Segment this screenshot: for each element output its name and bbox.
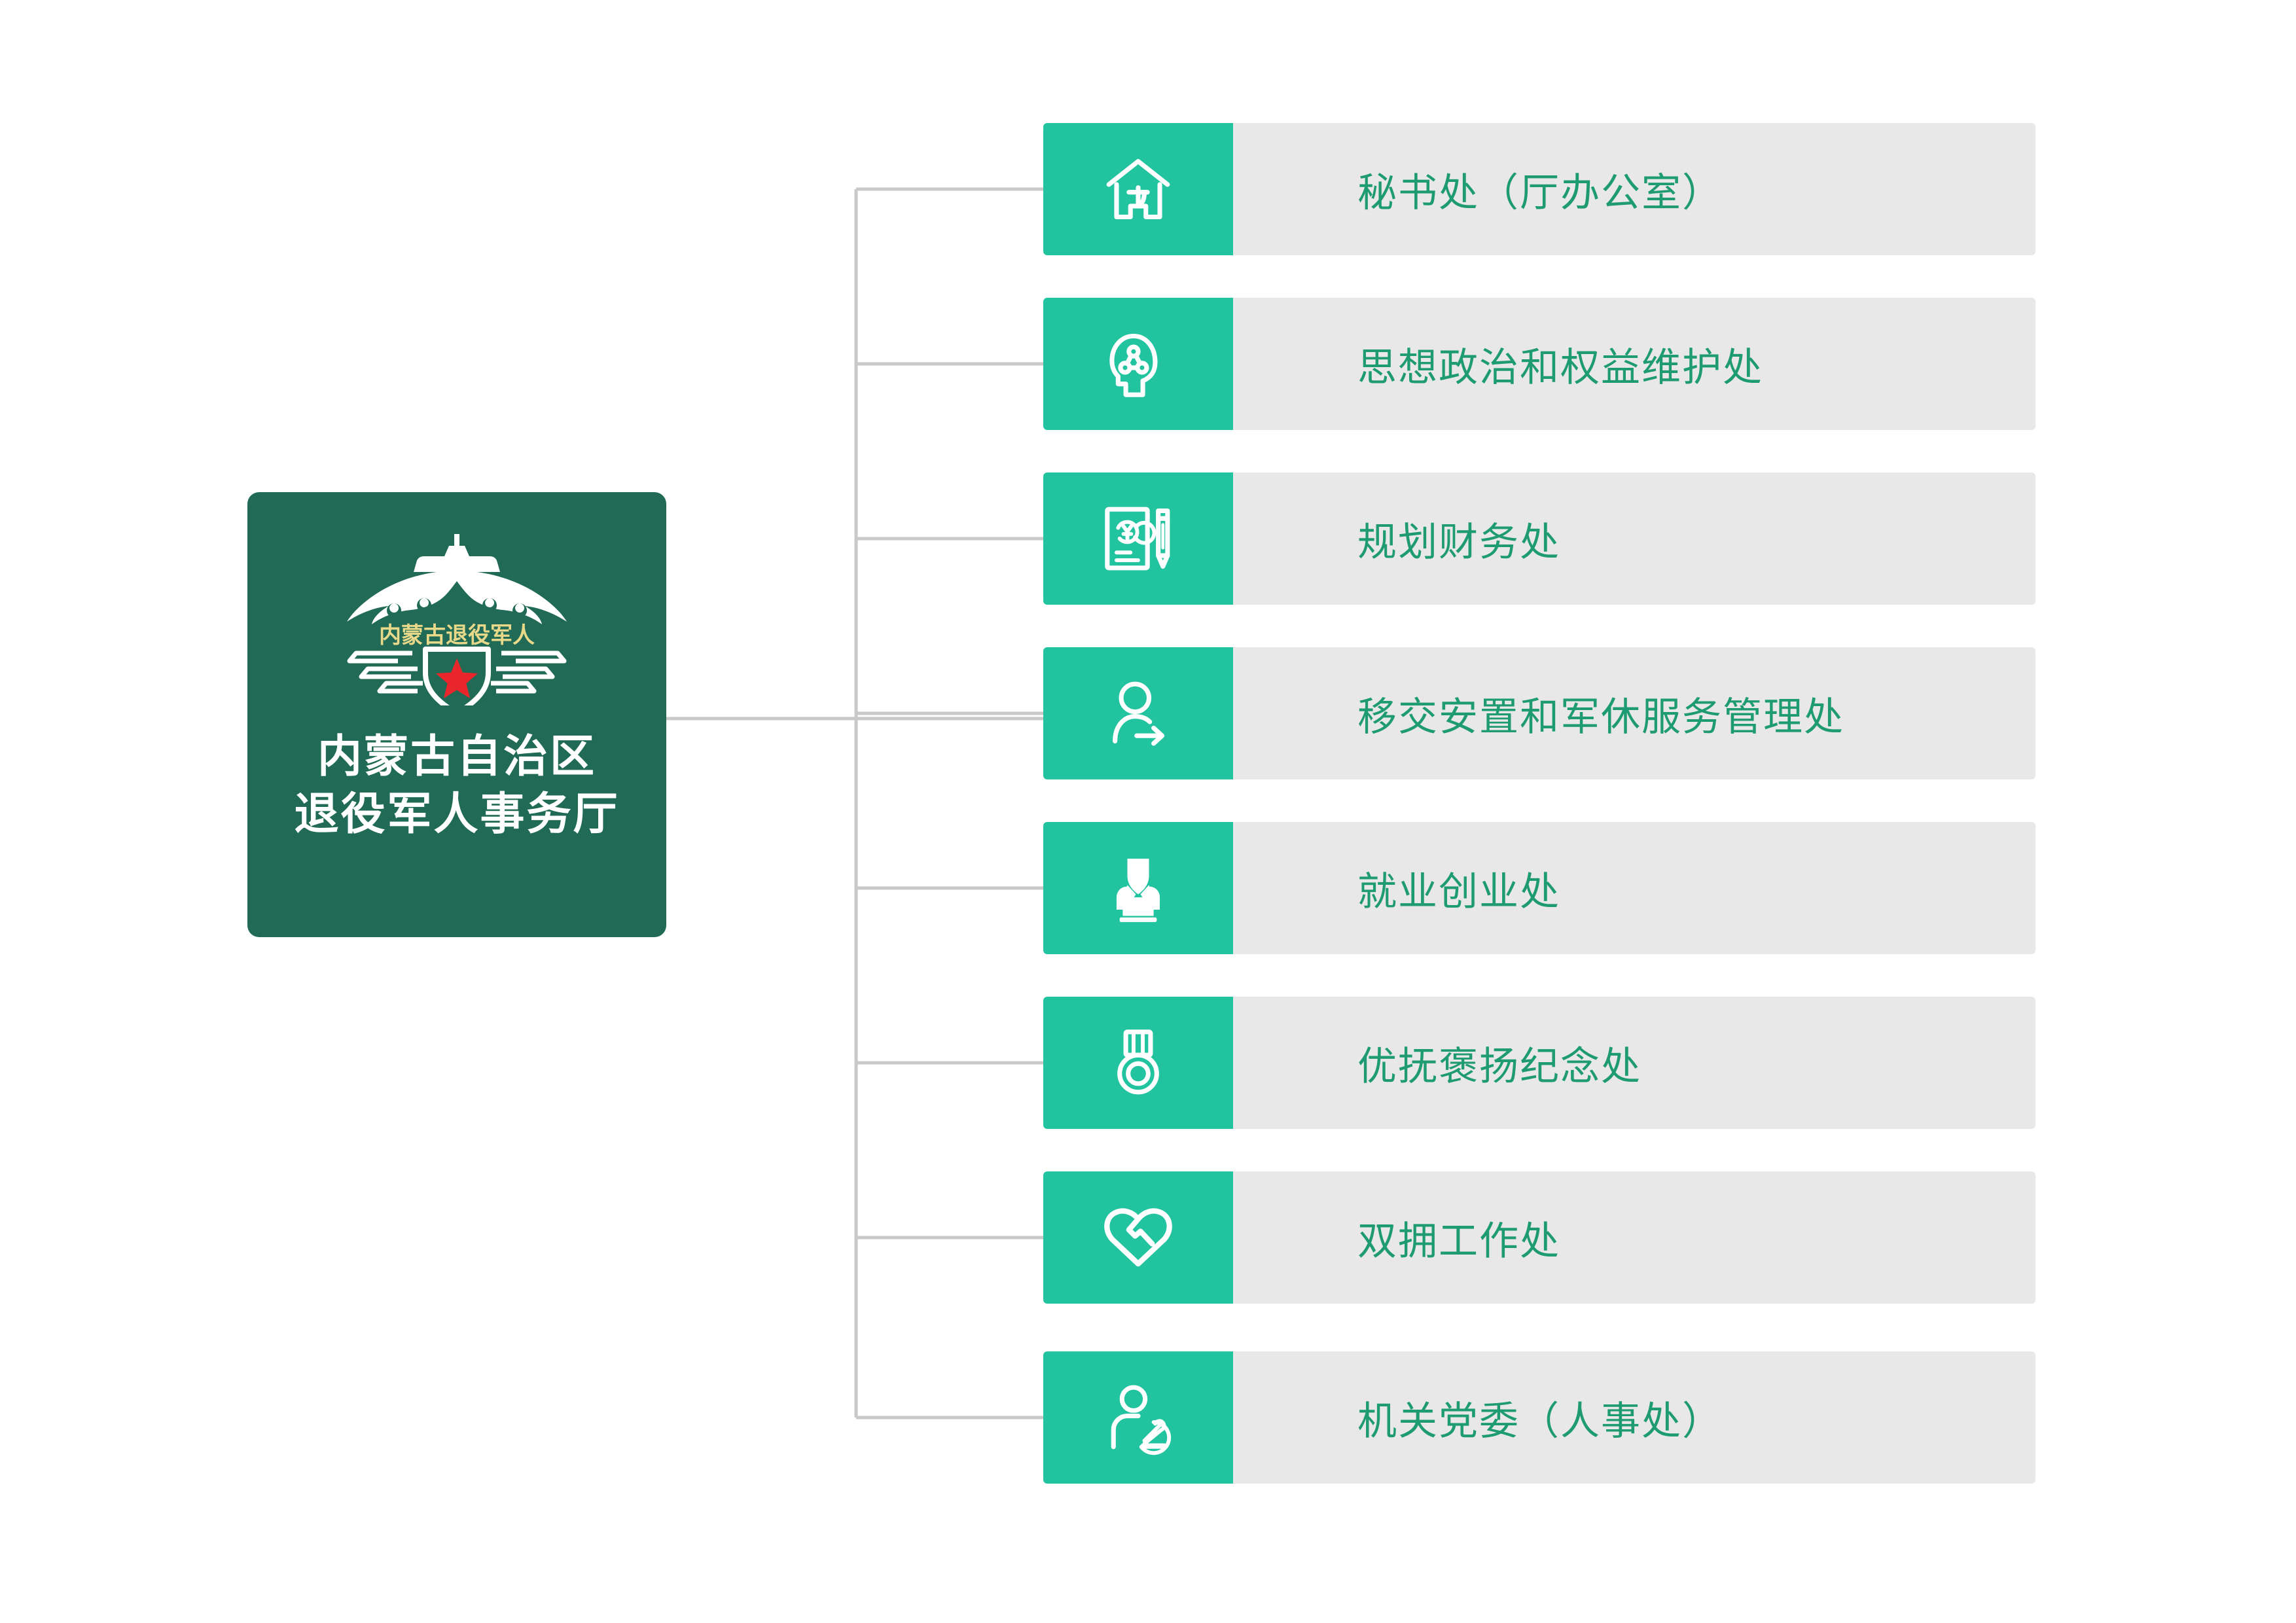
root-node-title: 内蒙古自治区 退役军人事务厅 [294,728,619,844]
department-label-1: 秘书处（厅办公室） [1357,161,1723,218]
department-icon-tile-8 [1043,1351,1233,1484]
person-party-emblem-icon [1100,1379,1177,1456]
department-label-wrap-1: 秘书处（厅办公室） [1233,123,2036,255]
org-chart-canvas: 内蒙古退役军人 内蒙古自治区 退役军人事务厅 [0,0,2296,1623]
red-star-icon [436,658,478,698]
department-row-2[interactable]: 思想政治和权益维护处 [1043,298,2036,430]
department-row-5[interactable]: 就业创业处 [1043,822,2036,954]
department-label-5: 就业创业处 [1357,860,1560,917]
department-row-8[interactable]: 机关党委（人事处） [1043,1351,2036,1484]
root-title-line-1: 内蒙古自治区 [294,728,619,785]
department-icon-tile-6 [1043,997,1233,1129]
head-network-icon [1100,325,1177,402]
department-label-wrap-6: 优抚褒扬纪念处 [1233,997,2036,1129]
department-icon-tile-1 [1043,123,1233,255]
inner-mongolia-veterans-emblem-icon: 内蒙古退役军人 [326,530,588,705]
department-icon-tile-3 [1043,473,1233,605]
department-icon-tile-2 [1043,298,1233,430]
department-label-wrap-4: 移交安置和军休服务管理处 [1233,647,2036,779]
medal-icon [1100,1024,1177,1101]
department-label-wrap-2: 思想政治和权益维护处 [1233,298,2036,430]
department-icon-tile-7 [1043,1171,1233,1304]
department-icon-tile-5 [1043,822,1233,954]
department-label-4: 移交安置和军休服务管理处 [1357,685,1844,742]
department-label-wrap-3: 规划财务处 [1233,473,2036,605]
root-node[interactable]: 内蒙古退役军人 内蒙古自治区 退役军人事务厅 [247,492,666,937]
department-row-3[interactable]: 规划财务处 [1043,473,2036,605]
department-label-wrap-5: 就业创业处 [1233,822,2036,954]
department-row-4[interactable]: 移交安置和军休服务管理处 [1043,647,2036,779]
department-label-wrap-7: 双拥工作处 [1233,1171,2036,1304]
person-transfer-arrow-icon [1100,675,1177,752]
department-row-1[interactable]: 秘书处（厅办公室） [1043,123,2036,255]
department-label-6: 优抚褒扬纪念处 [1357,1035,1641,1092]
emblem-motto-text: 内蒙古退役军人 [379,623,535,648]
department-label-8: 机关党委（人事处） [1357,1389,1723,1446]
department-label-2: 思想政治和权益维护处 [1357,336,1763,393]
department-label-wrap-8: 机关党委（人事处） [1233,1351,2036,1484]
root-title-line-2: 退役军人事务厅 [294,785,619,843]
office-house-icon [1100,151,1177,228]
department-row-7[interactable]: 双拥工作处 [1043,1171,2036,1304]
department-row-6[interactable]: 优抚褒扬纪念处 [1043,997,2036,1129]
finance-document-pencil-icon [1100,500,1177,577]
heart-handshake-icon [1100,1199,1177,1276]
department-label-7: 双拥工作处 [1357,1209,1560,1266]
department-label-3: 规划财务处 [1357,510,1560,567]
department-icon-tile-4 [1043,647,1233,779]
person-laptop-icon [1100,849,1177,927]
